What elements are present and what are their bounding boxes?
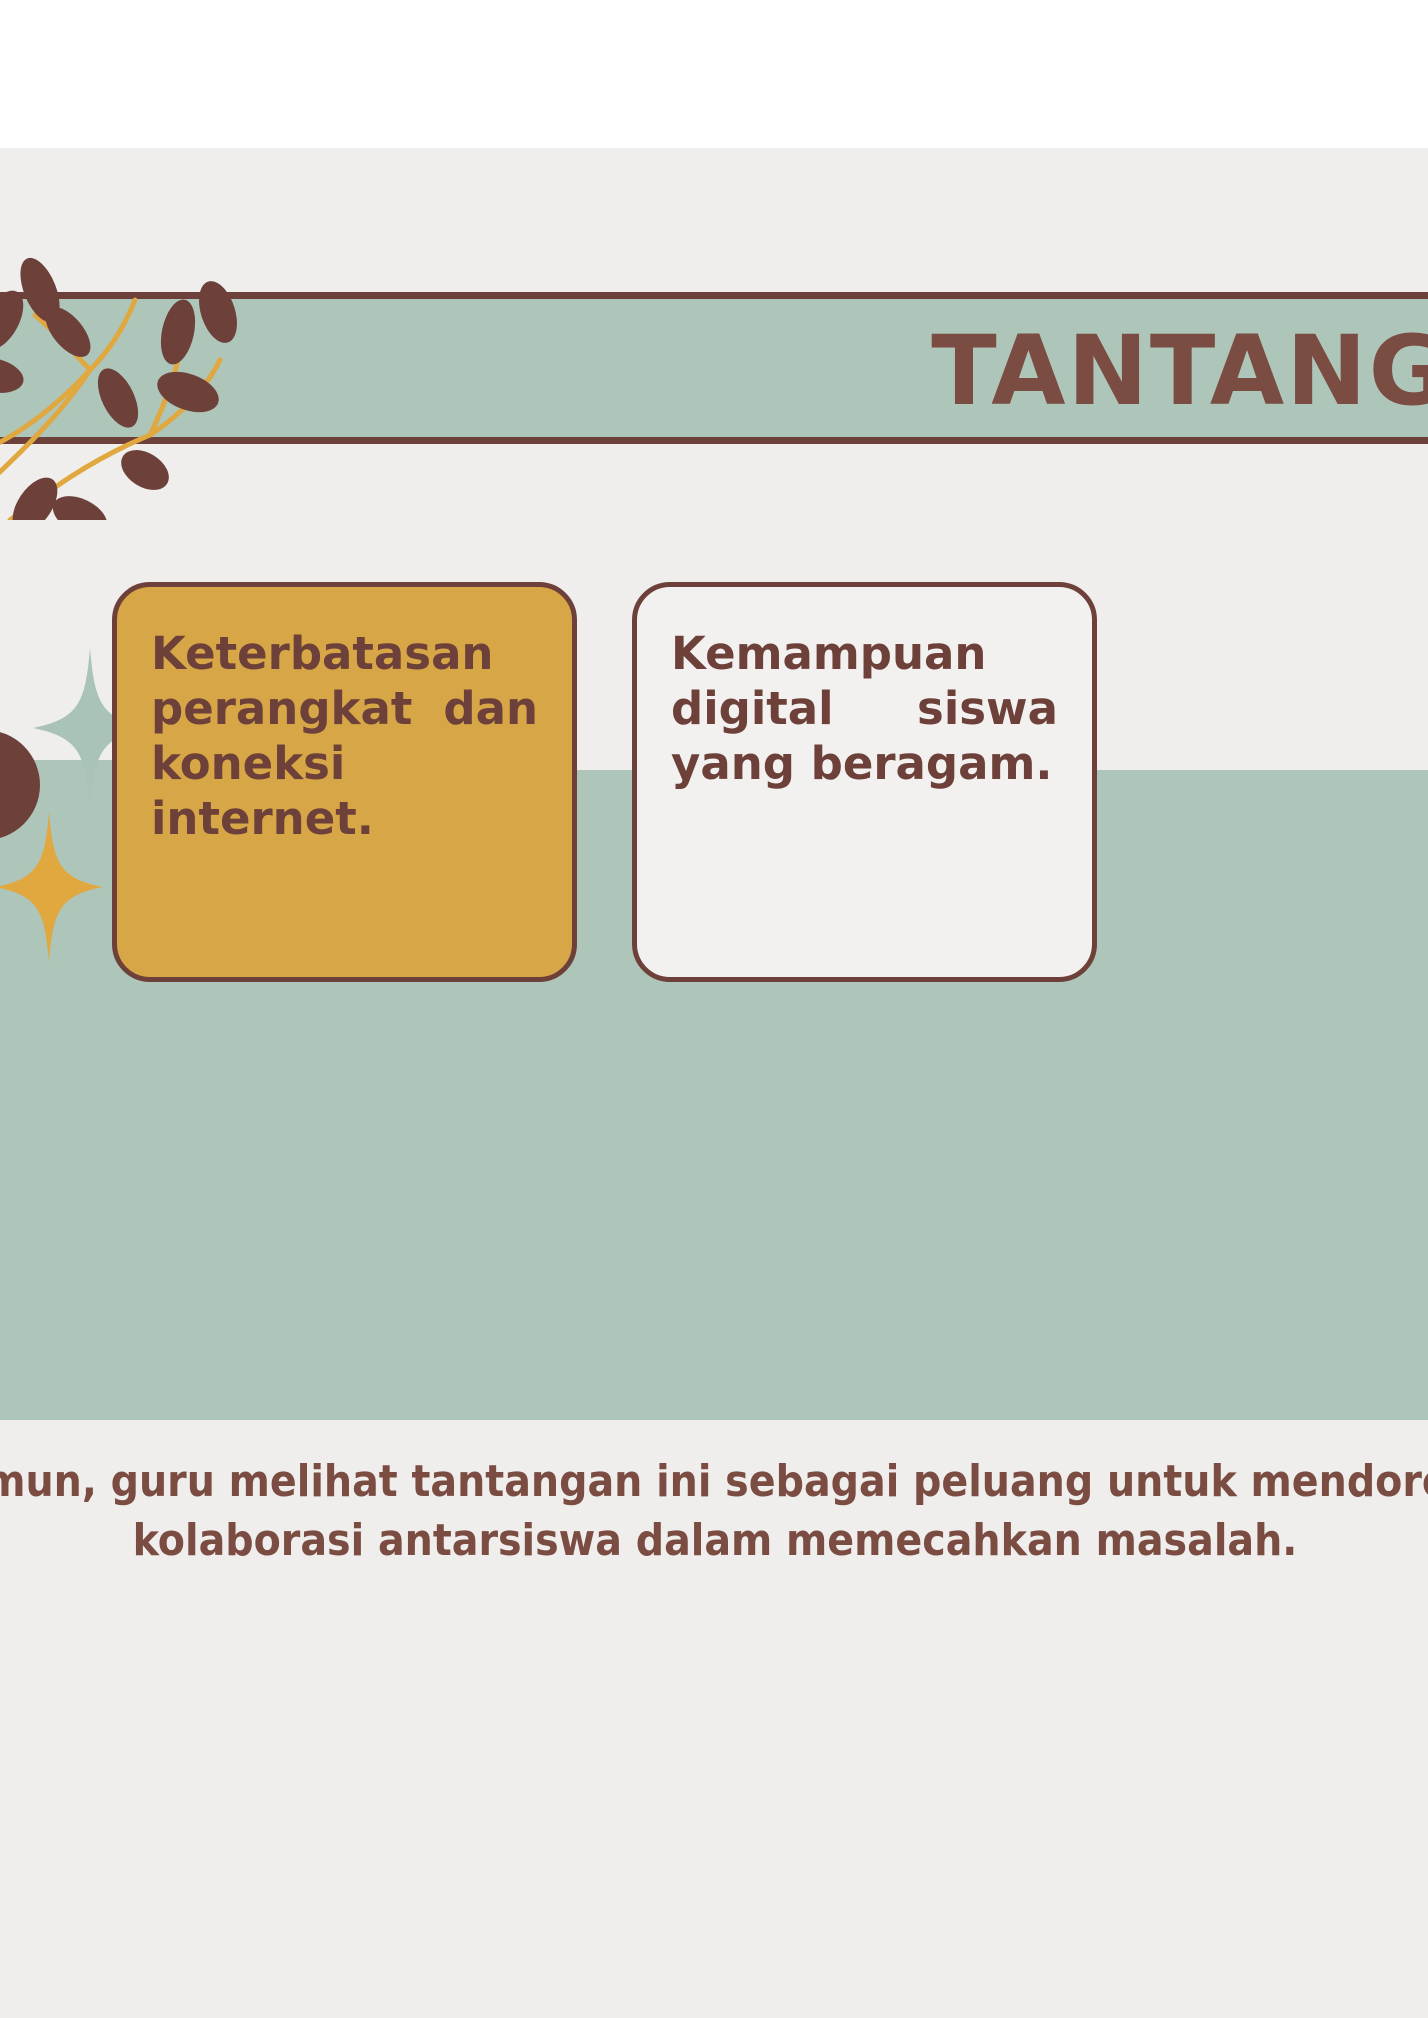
challenge-card-1[interactable]: Keterbatasan perangkat dan koneksi inter… (112, 582, 577, 982)
slide-canvas: TANTANGAN (0, 0, 1428, 2018)
bottom-paragraph: Namun, guru melihat tantangan ini sebaga… (0, 1452, 1428, 1571)
challenge-card-2[interactable]: Kemampuan digital siswa yang beragam. (632, 582, 1097, 982)
page-title: TANTANGAN (180, 306, 1428, 436)
challenge-card-1-text: Keterbatasan perangkat dan koneksi inter… (151, 627, 538, 847)
challenge-card-2-text: Kemampuan digital siswa yang beragam. (671, 627, 1058, 792)
